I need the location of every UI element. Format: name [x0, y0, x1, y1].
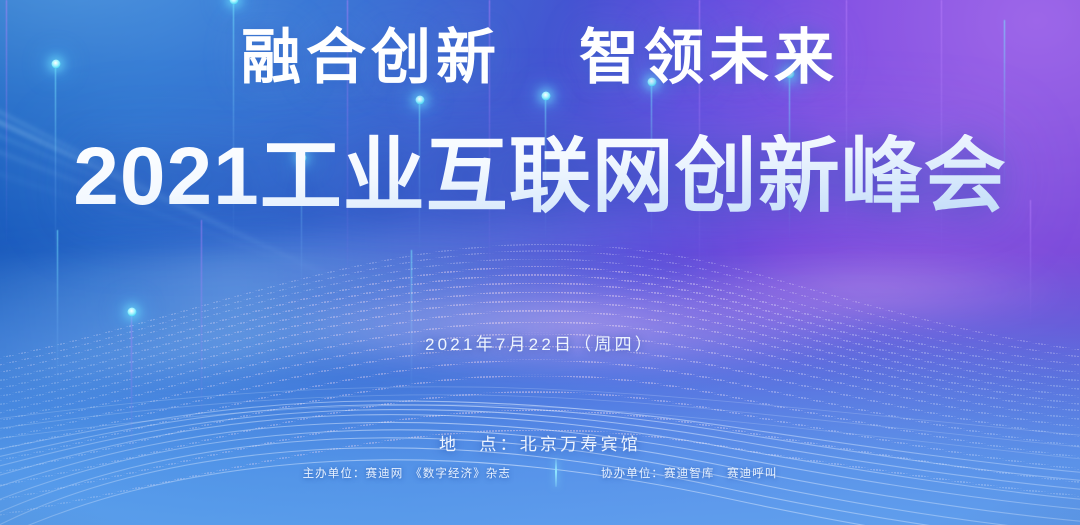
host-organizations: 主办单位：赛迪网 《数字经济》杂志: [303, 465, 511, 481]
event-venue: 地 点：北京万寿宾馆: [0, 428, 1080, 461]
headline-right: 智领未来: [579, 25, 839, 91]
event-date: 2021年7月22日（周四）: [0, 328, 1080, 361]
banner-footer: 主办单位：赛迪网 《数字经济》杂志 协办单位：赛迪智库 赛迪呼叫: [0, 459, 1080, 487]
banner-content: 融合创新智领未来 2021工业互联网创新峰会 2021年7月22日（周四） 地 …: [0, 0, 1080, 525]
banner-headline: 融合创新智领未来: [0, 28, 1080, 88]
headline-left: 融合创新: [241, 25, 501, 91]
event-banner: 融合创新智领未来 2021工业互联网创新峰会 2021年7月22日（周四） 地 …: [0, 0, 1080, 525]
footer-divider-icon: [555, 459, 557, 487]
event-title: 2021工业互联网创新峰会: [0, 134, 1080, 221]
cohost-organizations: 协办单位：赛迪智库 赛迪呼叫: [601, 465, 777, 481]
